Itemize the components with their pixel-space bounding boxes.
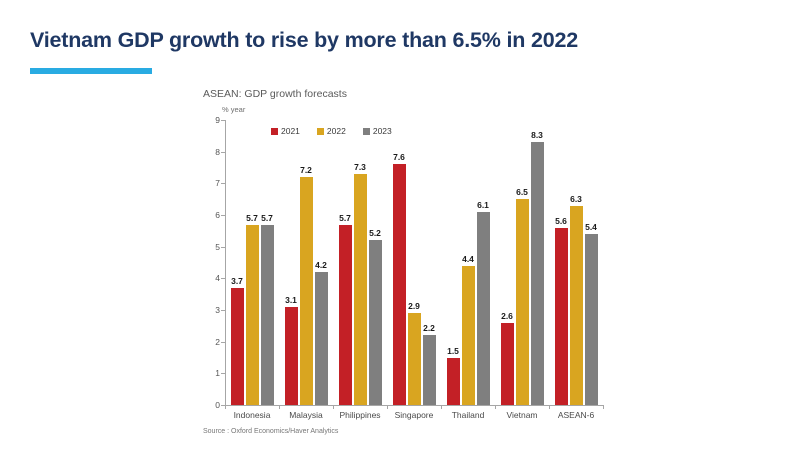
bar-vietnam-2023[interactable]: 8.3 xyxy=(531,120,544,405)
bar-rect xyxy=(447,358,460,406)
page-title: Vietnam GDP growth to rise by more than … xyxy=(30,28,578,53)
y-tick-label: 0 xyxy=(215,400,220,410)
bar-rect xyxy=(261,225,274,406)
bar-group-singapore: 7.62.92.2 xyxy=(387,120,441,405)
title-accent-underline xyxy=(30,68,152,74)
bar-group-thailand: 1.54.46.1 xyxy=(441,120,495,405)
legend-label: 2022 xyxy=(327,126,346,136)
bar-value-label: 2.6 xyxy=(501,311,513,321)
bar-asean-6-2023[interactable]: 5.4 xyxy=(585,120,598,405)
legend-item-2022[interactable]: 2022 xyxy=(317,126,346,136)
bar-value-label: 6.3 xyxy=(570,194,582,204)
bar-rect xyxy=(369,240,382,405)
bar-asean-6-2021[interactable]: 5.6 xyxy=(555,120,568,405)
bar-indonesia-2021[interactable]: 3.7 xyxy=(231,120,244,405)
y-tick-label: 2 xyxy=(215,337,220,347)
bar-value-label: 7.2 xyxy=(300,165,312,175)
bar-value-label: 5.4 xyxy=(585,222,597,232)
x-category-label: ASEAN-6 xyxy=(558,410,594,420)
bar-rect xyxy=(339,225,352,406)
bar-singapore-2023[interactable]: 2.2 xyxy=(423,120,436,405)
bar-value-label: 3.1 xyxy=(285,295,297,305)
y-tick-label: 7 xyxy=(215,178,220,188)
chart-title: ASEAN: GDP growth forecasts xyxy=(203,88,347,100)
chart-source-note: Source : Oxford Economics/Haver Analytic… xyxy=(203,428,338,435)
x-tick-mark xyxy=(279,405,280,409)
y-tick-label: 5 xyxy=(215,242,220,252)
bar-philippines-2021[interactable]: 5.7 xyxy=(339,120,352,405)
legend-label: 2021 xyxy=(281,126,300,136)
bar-value-label: 6.5 xyxy=(516,187,528,197)
bar-asean-6-2022[interactable]: 6.3 xyxy=(570,120,583,405)
bar-rect xyxy=(300,177,313,405)
gdp-growth-bar-chart: ASEAN: GDP growth forecasts % year 01234… xyxy=(203,88,613,433)
bar-rect xyxy=(408,313,421,405)
bar-thailand-2022[interactable]: 4.4 xyxy=(462,120,475,405)
x-tick-mark xyxy=(441,405,442,409)
bar-rect xyxy=(570,206,583,406)
bar-rect xyxy=(285,307,298,405)
bar-value-label: 7.6 xyxy=(393,152,405,162)
x-tick-mark xyxy=(549,405,550,409)
bar-group-philippines: 5.77.35.2 xyxy=(333,120,387,405)
bar-rect xyxy=(315,272,328,405)
bar-vietnam-2021[interactable]: 2.6 xyxy=(501,120,514,405)
bar-group-vietnam: 2.66.58.3 xyxy=(495,120,549,405)
bar-indonesia-2022[interactable]: 5.7 xyxy=(246,120,259,405)
bar-malaysia-2022[interactable]: 7.2 xyxy=(300,120,313,405)
bar-group-indonesia: 3.75.75.7 xyxy=(225,120,279,405)
bar-philippines-2022[interactable]: 7.3 xyxy=(354,120,367,405)
x-category-label: Malaysia xyxy=(289,410,323,420)
bar-value-label: 2.9 xyxy=(408,301,420,311)
x-category-label: Vietnam xyxy=(506,410,537,420)
bar-value-label: 5.7 xyxy=(339,213,351,223)
bar-rect xyxy=(423,335,436,405)
bar-value-label: 5.2 xyxy=(369,228,381,238)
chart-units-label: % year xyxy=(222,105,245,114)
chart-legend: 202120222023 xyxy=(271,126,392,136)
x-tick-mark xyxy=(495,405,496,409)
bar-rect xyxy=(477,212,490,405)
bar-thailand-2023[interactable]: 6.1 xyxy=(477,120,490,405)
plot-area: 0123456789 3.75.75.73.17.24.25.77.35.27.… xyxy=(225,120,603,405)
bar-value-label: 3.7 xyxy=(231,276,243,286)
x-tick-mark xyxy=(225,405,226,409)
bar-rect xyxy=(354,174,367,405)
legend-item-2021[interactable]: 2021 xyxy=(271,126,300,136)
bar-group-malaysia: 3.17.24.2 xyxy=(279,120,333,405)
bar-value-label: 1.5 xyxy=(447,346,459,356)
bar-value-label: 7.3 xyxy=(354,162,366,172)
bar-vietnam-2022[interactable]: 6.5 xyxy=(516,120,529,405)
y-tick-label: 9 xyxy=(215,115,220,125)
bar-rect xyxy=(231,288,244,405)
bar-group-asean-6: 5.66.35.4 xyxy=(549,120,603,405)
bar-rect xyxy=(462,266,475,405)
bar-indonesia-2023[interactable]: 5.7 xyxy=(261,120,274,405)
legend-swatch-icon xyxy=(363,128,370,135)
y-tick-label: 1 xyxy=(215,368,220,378)
bar-value-label: 4.4 xyxy=(462,254,474,264)
legend-item-2023[interactable]: 2023 xyxy=(363,126,392,136)
bar-philippines-2023[interactable]: 5.2 xyxy=(369,120,382,405)
y-tick-label: 3 xyxy=(215,305,220,315)
legend-label: 2023 xyxy=(373,126,392,136)
bar-value-label: 5.7 xyxy=(246,213,258,223)
legend-swatch-icon xyxy=(271,128,278,135)
bar-rect xyxy=(585,234,598,405)
bar-singapore-2022[interactable]: 2.9 xyxy=(408,120,421,405)
bar-singapore-2021[interactable]: 7.6 xyxy=(393,120,406,405)
bar-rect xyxy=(531,142,544,405)
x-category-label: Singapore xyxy=(395,410,434,420)
bar-rect xyxy=(555,228,568,405)
x-tick-mark xyxy=(387,405,388,409)
x-category-label: Thailand xyxy=(452,410,485,420)
bar-value-label: 8.3 xyxy=(531,130,543,140)
bar-rect xyxy=(246,225,259,406)
x-tick-mark xyxy=(603,405,604,409)
bar-value-label: 4.2 xyxy=(315,260,327,270)
x-category-label: Indonesia xyxy=(234,410,271,420)
y-tick-label: 8 xyxy=(215,147,220,157)
bar-malaysia-2021[interactable]: 3.1 xyxy=(285,120,298,405)
legend-swatch-icon xyxy=(317,128,324,135)
bar-value-label: 2.2 xyxy=(423,323,435,333)
bar-value-label: 5.6 xyxy=(555,216,567,226)
bar-rect xyxy=(501,323,514,405)
bar-rect xyxy=(516,199,529,405)
x-category-label: Philippines xyxy=(339,410,380,420)
y-tick-label: 6 xyxy=(215,210,220,220)
bar-value-label: 6.1 xyxy=(477,200,489,210)
x-axis-line xyxy=(225,405,604,406)
y-tick-label: 4 xyxy=(215,273,220,283)
bar-value-label: 5.7 xyxy=(261,213,273,223)
x-tick-mark xyxy=(333,405,334,409)
bar-malaysia-2023[interactable]: 4.2 xyxy=(315,120,328,405)
bar-rect xyxy=(393,164,406,405)
bar-thailand-2021[interactable]: 1.5 xyxy=(447,120,460,405)
